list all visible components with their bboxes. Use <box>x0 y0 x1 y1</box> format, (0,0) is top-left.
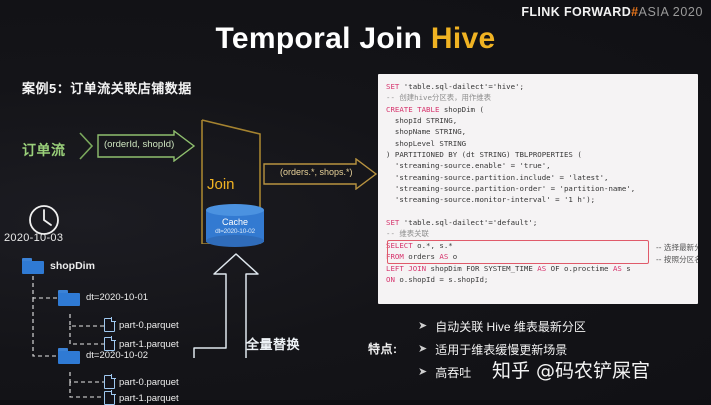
watermark: 知乎 @码农铲屎官 <box>492 356 650 383</box>
feature-item-0: ➤ 自动关联 Hive 维表最新分区 <box>418 315 708 338</box>
tree-label-partition-1: dt=2020-10-02 <box>86 350 148 361</box>
order-stream-arrow: (orderId, shopId) <box>78 130 196 162</box>
file-icon-parquet[interactable] <box>104 337 115 351</box>
brand-flink-forward: FLINK FORWARD <box>521 5 631 19</box>
tree-label-file-0-0: part-0.parquet <box>119 320 179 331</box>
feature-text-0: 自动关联 Hive 维表最新分区 <box>435 318 586 335</box>
folder-icon-partition-1[interactable] <box>58 348 80 364</box>
sql-code-text: SET 'table.sql-dailect'='hive'; -- 创建hiv… <box>386 81 698 285</box>
chevron-right-icon: ➤ <box>418 344 427 355</box>
join-output-arrow: (orders.*, shops.*) <box>262 158 378 190</box>
code-side-comment-2: -- 按照分区名排序 <box>656 254 698 265</box>
feature-text-2: 高吞吐 <box>435 364 471 381</box>
cache-bottom <box>206 235 264 247</box>
tree-label-file-1-1: part-1.parquet <box>119 393 179 404</box>
full-replace-label: 全量替换 <box>246 334 300 353</box>
tree-label-partition-0: dt=2020-10-01 <box>86 292 148 303</box>
file-fold <box>111 317 116 322</box>
folder-body <box>22 261 44 274</box>
brand-hash-icon: # <box>631 5 638 19</box>
join-label: Join <box>207 176 235 193</box>
file-fold <box>111 374 116 379</box>
clock-date-label: 2020-10-03 <box>4 232 63 244</box>
folder-icon-root[interactable] <box>22 258 44 274</box>
order-stream-arrow-text: (orderId, shopId) <box>104 139 174 150</box>
folder-icon-partition-0[interactable] <box>58 290 80 306</box>
tree-label-file-0-1: part-1.parquet <box>119 339 179 350</box>
features-label: 特点: <box>368 340 398 357</box>
page-title-highlight: Hive <box>431 22 496 55</box>
cache-partition: dt=2020-10-02 <box>206 228 264 235</box>
file-icon-parquet[interactable] <box>104 318 115 332</box>
page-title-main: Temporal Join <box>216 22 431 55</box>
file-icon-parquet[interactable] <box>104 375 115 389</box>
file-fold <box>111 390 116 395</box>
join-output-arrow-text: (orders.*, shops.*) <box>280 167 353 177</box>
slide-root: FLINK FORWARD#ASIA 2020 Temporal Join Hi… <box>0 0 711 400</box>
cache-top <box>206 204 264 216</box>
folder-body <box>58 351 80 364</box>
cache-title: Cache <box>206 217 264 227</box>
page-subtitle: 案例5：订单流关联店铺数据 <box>22 78 192 97</box>
brand-logo: FLINK FORWARD#ASIA 2020 <box>521 5 703 19</box>
folder-body <box>58 293 80 306</box>
tree-label-root: shopDim <box>50 260 95 272</box>
sql-code-panel: SET 'table.sql-dailect'='hive'; -- 创建hiv… <box>378 74 698 304</box>
code-side-comment-1: -- 选择最新分区 <box>656 242 698 253</box>
file-icon-parquet[interactable] <box>104 391 115 405</box>
chevron-right-icon: ➤ <box>418 321 427 332</box>
chevron-right-icon: ➤ <box>418 367 427 378</box>
order-stream-label: 订单流 <box>22 140 66 160</box>
tree-label-file-1-0: part-0.parquet <box>119 377 179 388</box>
file-fold <box>111 336 116 341</box>
cache-cylinder: Cache dt=2020-10-02 <box>206 204 264 248</box>
brand-asia-year: ASIA 2020 <box>639 5 703 19</box>
page-title: Temporal Join Hive <box>0 22 711 56</box>
